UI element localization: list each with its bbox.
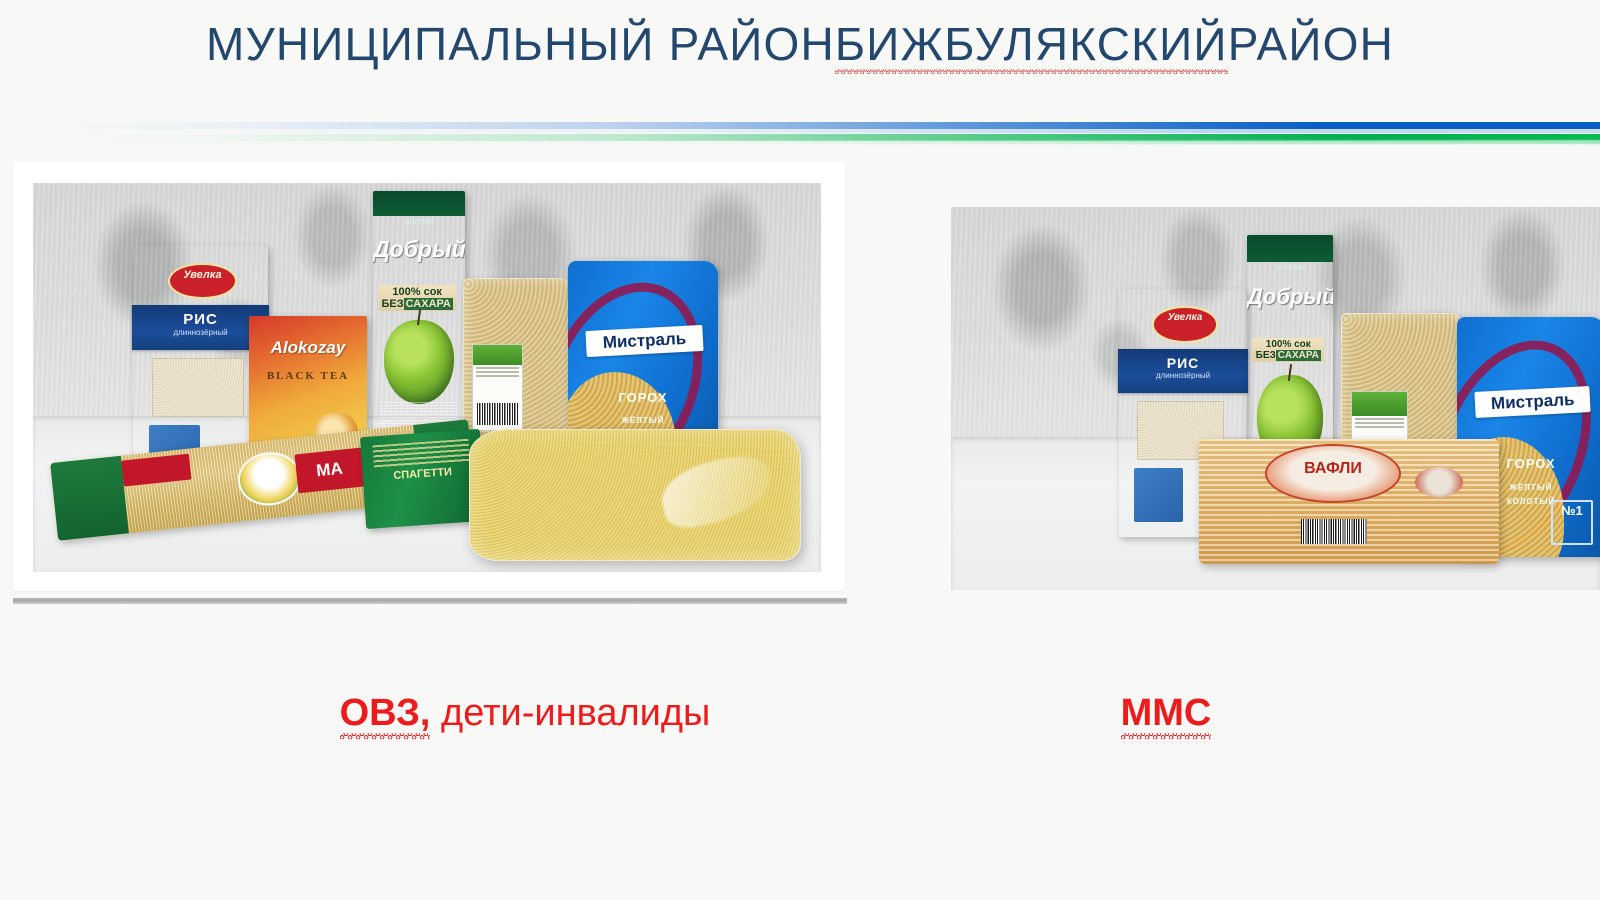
peas-product-label: ГОРОХ (568, 390, 718, 405)
peas-brand-ribbon: Мистраль (585, 325, 703, 357)
title-misspelled-word: БИЖБУЛЯКСКИЙ (835, 18, 1228, 71)
juice-flavor-label: яблоко (1247, 262, 1333, 272)
spaghetti-brand-label: MA (294, 448, 365, 494)
millet-bag-highlight (656, 449, 779, 534)
flakes-label-cap (1352, 392, 1406, 416)
left-photo-frame: Увелка РИС длиннозёрный 800 г Alokozay B… (13, 162, 845, 591)
tea-brand-label: Alokozay (249, 338, 367, 358)
presentation-slide: МУНИЦИПАЛЬНЫЙ РАЙОН БИЖБУЛЯКСКИЙ РАЙОН У… (0, 0, 1600, 900)
juice-carton-top (1247, 235, 1333, 262)
rice-brand-label: Увелка (170, 265, 235, 286)
page-title: МУНИЦИПАЛЬНЫЙ РАЙОН БИЖБУЛЯКСКИЙ РАЙОН (206, 18, 1394, 71)
left-item-juice-carton: яблоко Добрый 100% сок БЕЗСАХАРА (373, 191, 465, 439)
juice-claim-line2: БЕЗ (381, 298, 403, 310)
divider-green-halo (0, 140, 1600, 144)
flakes-barcode (477, 403, 518, 425)
juice-claim-line3: САХАРА (404, 298, 453, 310)
flakes-label-line (476, 367, 518, 369)
left-caption-rest: дети-инвалиды (430, 692, 710, 734)
rice-brand-badge: Увелка (168, 263, 237, 300)
juice-brand-label: Добрый (373, 236, 465, 263)
left-caption: ОВЗ, дети-инвалиды (0, 694, 1050, 732)
peas-variety-1: ЖЁЛТЫЙ (568, 416, 718, 425)
right-item-wafers-pack: ВАФЛИ (1199, 439, 1499, 564)
right-photo: Увелка РИС длиннозёрный 800 г яблоко Доб… (951, 207, 1600, 590)
rice-name-band: РИС длиннозёрный (1118, 349, 1249, 394)
rice-product-label: РИС (1118, 355, 1249, 371)
juice-claim-line1: 100% сок (1252, 339, 1324, 350)
left-photo: Увелка РИС длиннозёрный 800 г Alokozay B… (33, 183, 821, 572)
spaghetti-left-cap (50, 456, 129, 541)
juice-brand-label: Добрый (1247, 284, 1333, 310)
flakes-label-line (1355, 422, 1403, 424)
rice-brand-badge: Увелка (1152, 306, 1217, 342)
divider-blue-halo (0, 129, 1600, 133)
decorative-divider (0, 120, 1600, 146)
left-item-millet-bag (469, 429, 801, 561)
title-prefix: МУНИЦИПАЛЬНЫЙ РАЙОН (206, 18, 835, 71)
spaghetti-brand-oval (235, 450, 303, 509)
rice-blue-square (1134, 468, 1183, 523)
juice-claim-tag: 100% сок БЕЗСАХАРА (1252, 338, 1324, 362)
juice-claim-line3: САХАРА (1276, 350, 1321, 361)
right-photo-scene: Увелка РИС длиннозёрный 800 г яблоко Доб… (951, 207, 1600, 590)
juice-claim-line1: 100% сок (379, 286, 456, 298)
right-caption-text: ММС (1121, 694, 1212, 732)
peas-brand-label: Мистраль (585, 325, 703, 357)
left-photo-scene: Увелка РИС длиннозёрный 800 г Alokozay B… (33, 183, 821, 572)
title-suffix: РАЙОН (1228, 18, 1394, 71)
tea-product-label: BLACK TEA (249, 370, 367, 382)
rice-window (152, 358, 244, 418)
flakes-label (472, 344, 522, 432)
juice-flavor-label: яблоко (373, 216, 465, 226)
rice-variety-label: длиннозёрный (1118, 371, 1249, 380)
juice-claim-tag: 100% сок БЕЗСАХАРА (379, 285, 456, 311)
wafers-barcode (1301, 519, 1367, 544)
juice-carton-top (373, 191, 465, 216)
divider-blue-line (0, 122, 1600, 129)
juice-claim-line2: БЕЗ (1256, 350, 1276, 361)
right-caption: ММС (951, 694, 1381, 732)
spaghetti-red-tag (122, 453, 192, 486)
title-block: МУНИЦИПАЛЬНЫЙ РАЙОН БИЖБУЛЯКСКИЙ РАЙОН (0, 18, 1600, 71)
left-frame-shadow-line (13, 598, 847, 604)
rice-brand-label: Увелка (1154, 308, 1215, 327)
wafers-small-oval (1415, 467, 1463, 497)
wafers-brand-oval: ВАФЛИ (1265, 444, 1401, 503)
flakes-label-line (476, 371, 518, 373)
flakes-label-line (1355, 418, 1403, 420)
flakes-label-line (476, 375, 518, 377)
flakes-label-line (1355, 426, 1403, 428)
flakes-label-cap (473, 345, 521, 366)
wafers-product-label: ВАФЛИ (1267, 460, 1399, 478)
peas-number-one-badge: №1 (1551, 500, 1593, 545)
juice-apple-illustration (384, 320, 454, 404)
left-caption-bold: ОВЗ, (340, 694, 431, 732)
left-item-green-pack: СПАГЕТТИ (360, 429, 486, 529)
